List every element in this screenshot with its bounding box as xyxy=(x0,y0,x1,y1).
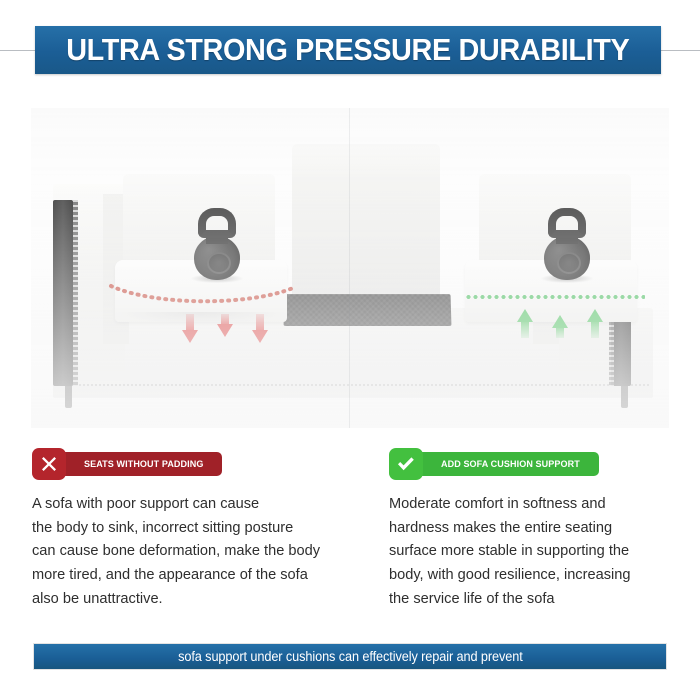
badge-label-negative: SEATS WITHOUT PADDING xyxy=(84,459,203,470)
badge-pill-positive: ADD SOFA CUSHION SUPPORT xyxy=(409,452,599,476)
flat-line-indicator xyxy=(465,294,645,300)
pressure-down-arrows xyxy=(182,314,268,344)
comparison-column-negative: SEATS WITHOUT PADDING A sofa with poor s… xyxy=(32,448,352,626)
sofa-support-board xyxy=(284,294,452,326)
kettlebell-handle-left xyxy=(198,208,236,238)
x-mark-icon xyxy=(32,448,66,480)
header-rule-right xyxy=(660,50,700,51)
title-plate: ULTRA STRONG PRESSURE DURABILITY xyxy=(35,26,661,74)
badge-label-positive: ADD SOFA CUSHION SUPPORT xyxy=(441,459,580,470)
arrow-up-icon xyxy=(517,308,533,338)
badge-seats-without-padding: SEATS WITHOUT PADDING xyxy=(32,448,352,480)
kettlebell-left xyxy=(189,208,245,280)
sofa-side-panel-left xyxy=(53,200,73,386)
comparison-body-positive: Moderate comfort in softness and hardnes… xyxy=(389,493,700,611)
arrow-down-icon xyxy=(252,314,268,344)
sofa-leg-left xyxy=(65,386,72,408)
comparison-column-positive: ADD SOFA CUSHION SUPPORT Moderate comfor… xyxy=(389,448,700,626)
arrow-up-icon xyxy=(552,308,568,338)
kettlebell-handle-right xyxy=(548,208,586,238)
support-up-arrows xyxy=(517,308,603,338)
kettlebell-right xyxy=(539,208,595,280)
kettlebell-weight-plate-left xyxy=(207,252,231,274)
arrow-down-icon xyxy=(217,314,233,344)
kettlebell-weight-plate-right xyxy=(557,252,581,274)
comparison-body-negative: A sofa with poor support can cause the b… xyxy=(32,493,352,611)
sofa-comparison-image xyxy=(31,108,669,428)
sofa-nailhead-trim-left xyxy=(73,200,78,386)
page-title: ULTRA STRONG PRESSURE DURABILITY xyxy=(66,32,629,68)
header-rule-left xyxy=(0,50,36,51)
header-banner: ULTRA STRONG PRESSURE DURABILITY xyxy=(0,26,700,74)
sofa-base-stitching xyxy=(59,384,649,386)
photo-pane-seam xyxy=(349,108,350,428)
sagging-curve-indicator xyxy=(109,284,295,308)
footer-banner: sofa support under cushions can effectiv… xyxy=(33,643,667,670)
comparison-section: SEATS WITHOUT PADDING A sofa with poor s… xyxy=(0,448,700,628)
footer-text: sofa support under cushions can effectiv… xyxy=(178,649,523,664)
arrow-up-icon xyxy=(587,308,603,338)
badge-add-sofa-cushion-support: ADD SOFA CUSHION SUPPORT xyxy=(389,448,700,480)
sofa-center-back-cushion xyxy=(292,144,440,310)
sofa-leg-right xyxy=(621,386,628,408)
check-mark-icon xyxy=(389,448,423,480)
badge-pill-negative: SEATS WITHOUT PADDING xyxy=(52,452,222,476)
arrow-down-icon xyxy=(182,314,198,344)
